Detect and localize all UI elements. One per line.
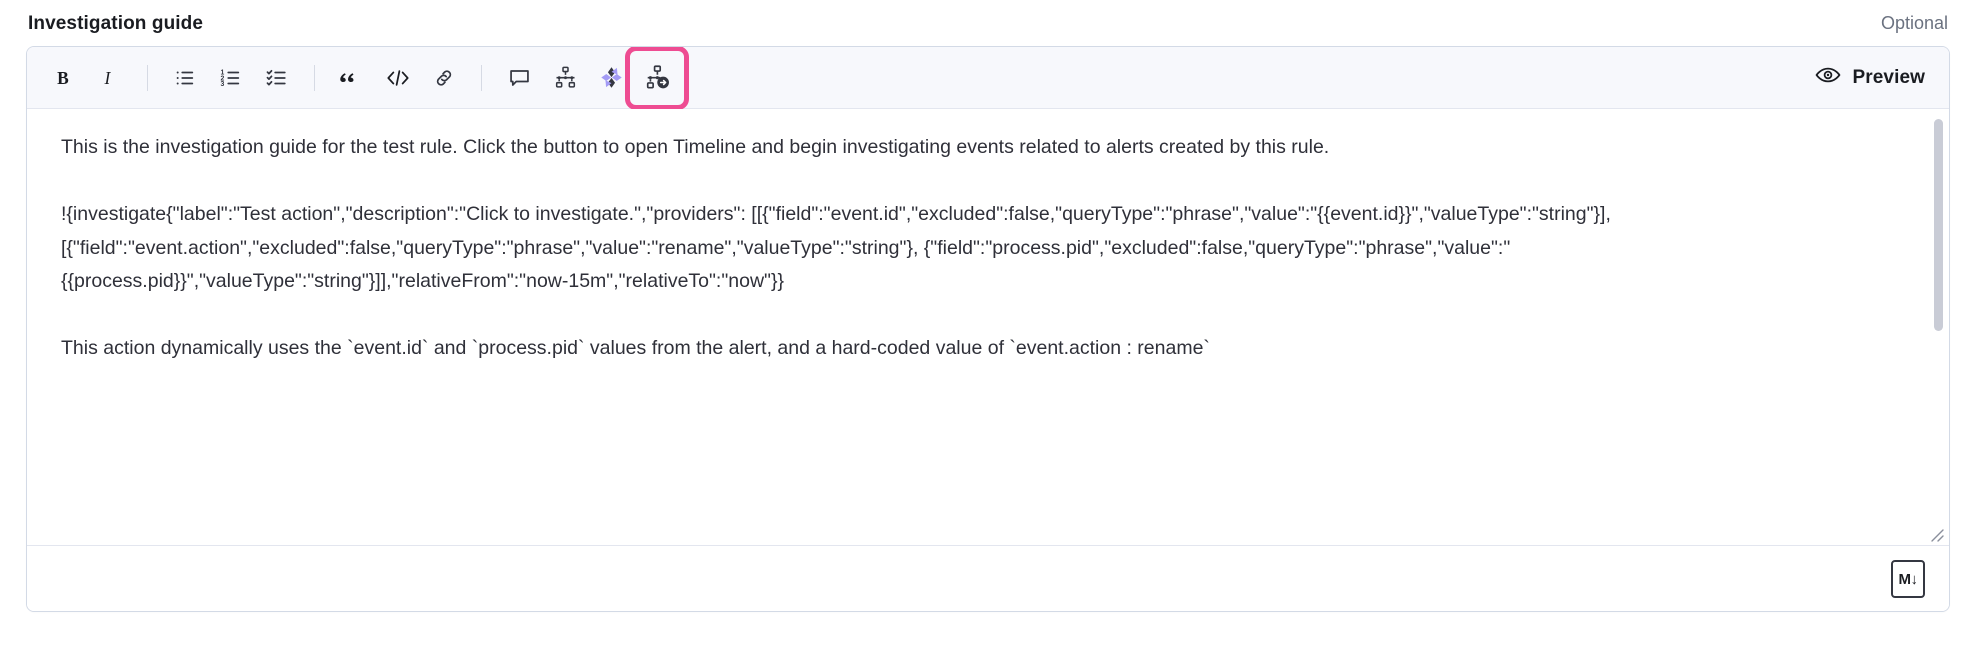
link-icon	[433, 67, 455, 89]
quote-button[interactable]	[329, 55, 375, 101]
toolbar-separator	[481, 65, 482, 91]
insert-investigation-button[interactable]	[634, 55, 680, 101]
checklist-icon	[266, 67, 288, 89]
quote-icon	[340, 67, 364, 89]
timeline-icon	[554, 66, 577, 89]
optional-badge: Optional	[1881, 0, 1948, 46]
bulleted-list-button[interactable]	[162, 55, 208, 101]
resize-handle-icon[interactable]	[1929, 527, 1945, 543]
editor-body: This is the investigation guide for the …	[27, 109, 1949, 546]
numbered-list-button[interactable]: 1 2 3	[208, 55, 254, 101]
editor-scrollbar[interactable]	[1934, 115, 1943, 540]
toolbar-group-text-style: B I	[41, 55, 133, 101]
toolbar-separator	[147, 65, 148, 91]
toolbar-separator	[314, 65, 315, 91]
bold-icon: B	[53, 67, 75, 89]
checklist-button[interactable]	[254, 55, 300, 101]
investigate-icon	[645, 65, 670, 90]
osquery-button[interactable]	[588, 55, 634, 101]
code-button[interactable]	[375, 55, 421, 101]
markdown-textarea[interactable]: This is the investigation guide for the …	[27, 109, 1949, 546]
eye-icon	[1815, 64, 1841, 92]
preview-label: Preview	[1852, 67, 1925, 89]
code-icon	[386, 67, 410, 89]
link-button[interactable]	[421, 55, 467, 101]
markdown-help-button[interactable]: M↓	[1891, 560, 1925, 598]
svg-text:3: 3	[221, 81, 225, 88]
bold-button[interactable]: B	[41, 55, 87, 101]
osquery-icon	[599, 65, 624, 90]
scrollbar-thumb[interactable]	[1934, 119, 1943, 331]
investigation-guide-field: Investigation guide Optional B I	[0, 0, 1976, 668]
markdown-editor: B I	[26, 46, 1950, 612]
svg-text:B: B	[57, 67, 69, 87]
svg-text:I: I	[104, 67, 112, 87]
preview-button[interactable]: Preview	[1809, 57, 1933, 99]
page-title: Investigation guide	[28, 1, 203, 47]
bulleted-list-icon	[174, 67, 196, 89]
divider	[27, 545, 1949, 546]
toolbar-group-insert	[329, 55, 467, 101]
italic-icon: I	[99, 67, 121, 89]
editor-footer: M↓	[27, 546, 1949, 612]
toolbar-group-lists: 1 2 3	[162, 55, 300, 101]
numbered-list-icon: 1 2 3	[220, 67, 242, 89]
comment-button[interactable]	[496, 55, 542, 101]
comment-icon	[508, 66, 531, 89]
toolbar-group-security	[496, 55, 680, 101]
field-header: Investigation guide Optional	[26, 0, 1950, 46]
editor-toolbar: B I	[27, 47, 1949, 109]
timeline-button[interactable]	[542, 55, 588, 101]
italic-button[interactable]: I	[87, 55, 133, 101]
